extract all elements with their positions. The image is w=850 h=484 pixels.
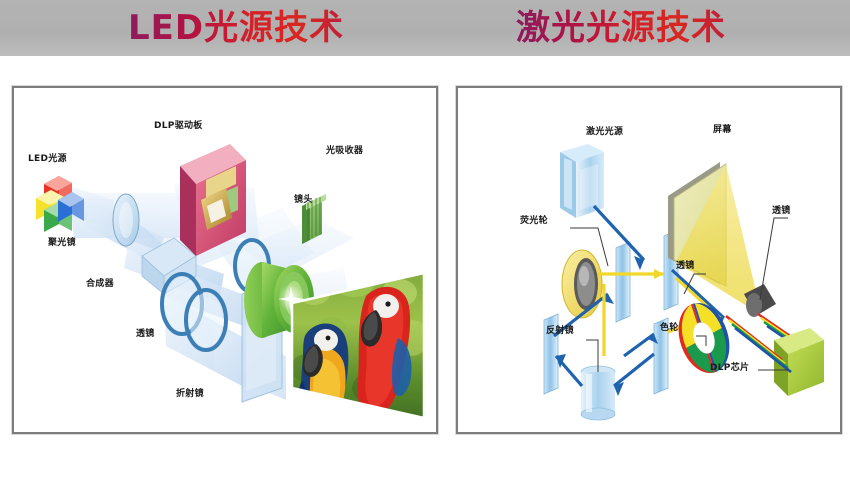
label-dlp-chip: DLP芯片 [710, 360, 749, 373]
label-phosphor-wheel: 荧光轮 [520, 213, 548, 226]
label-laser-source: 激光光源 [586, 124, 623, 137]
label-dlp-driver-board: DLP驱动板 [154, 118, 203, 131]
condenser-lens [113, 194, 139, 246]
laser-source [560, 144, 604, 218]
label-refracting-mirror: 折射镜 [176, 386, 204, 399]
page-title-led: LED光源技术 [128, 6, 344, 50]
panel-laser-technology: 激光光源 屏幕 荧光轮 透镜 透镜 反射镜 色轮 DLP芯片 [456, 86, 842, 434]
reflecting-mirror [581, 366, 615, 420]
page-title-laser: 激光光源技术 [516, 6, 726, 50]
label-lens: 透镜 [136, 326, 155, 339]
slide-root: LED光源技术 激光光源技术 [0, 0, 850, 484]
label-color-wheel: 色轮 [660, 320, 679, 333]
label-condenser-lens: 聚光镜 [48, 235, 76, 248]
label-projection-lens: 镜头 [294, 192, 313, 205]
panel-led-technology: LED光源 DLP驱动板 光吸收器 聚光镜 合成器 镜头 透镜 折射镜 [12, 86, 438, 434]
label-screen: 屏幕 [713, 122, 732, 135]
label-led-source: LED光源 [28, 151, 67, 164]
label-reflecting-mirror: 反射镜 [546, 323, 574, 336]
laser-diagram [458, 88, 840, 432]
label-light-absorber: 光吸收器 [326, 143, 363, 156]
phosphor-wheel [562, 250, 602, 318]
label-lens-right: 透镜 [772, 203, 791, 216]
led-diagram [14, 88, 436, 432]
label-combiner: 合成器 [86, 276, 114, 289]
label-lens-mid: 透镜 [676, 258, 695, 271]
blue-gold-macaw [298, 324, 349, 426]
